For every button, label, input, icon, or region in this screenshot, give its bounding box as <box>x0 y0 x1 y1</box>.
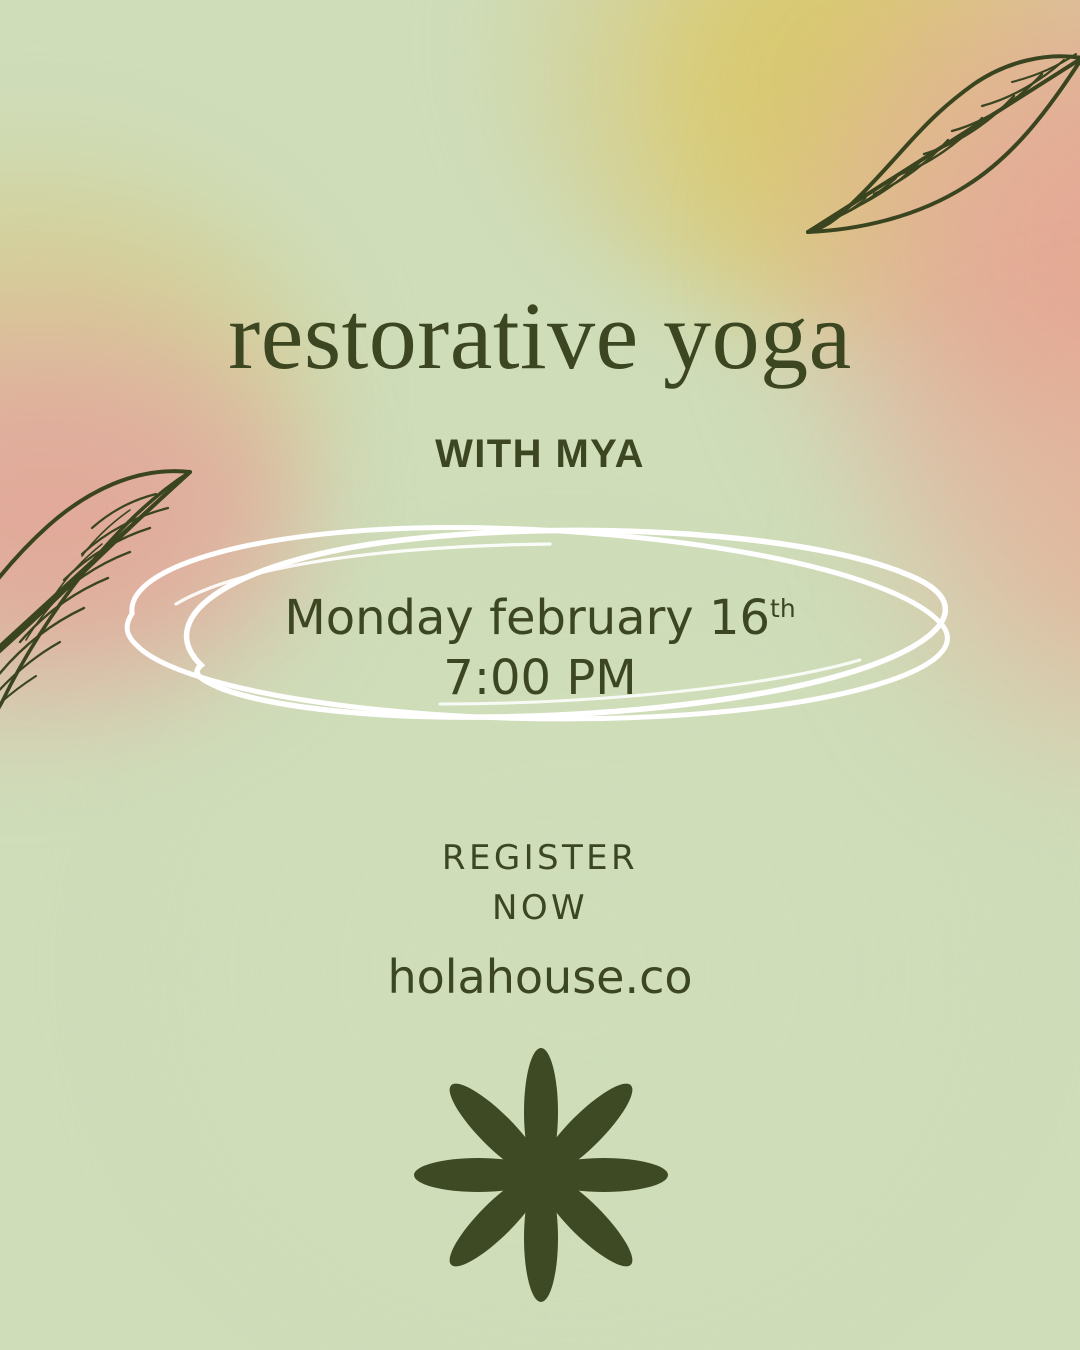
register-cta[interactable]: REGISTER NOW <box>0 834 1080 933</box>
page-title: restorative yoga <box>0 286 1080 387</box>
event-date: Monday february 16th <box>0 588 1080 648</box>
event-time: 7:00 PM <box>0 648 1080 708</box>
leaf-icon <box>796 18 1080 258</box>
register-cta-line2: NOW <box>0 884 1080 934</box>
event-details: Monday february 16th 7:00 PM <box>0 588 1080 709</box>
event-date-text: Monday february 16 <box>284 590 770 646</box>
event-date-ordinal: th <box>770 594 796 623</box>
flower-asterisk-icon <box>411 1045 671 1305</box>
register-cta-line1: REGISTER <box>0 834 1080 884</box>
website-link[interactable]: holahouse.co <box>0 950 1080 1004</box>
poster-canvas: restorative yoga WITH MYA Monday februar… <box>0 0 1080 1350</box>
instructor-label: WITH MYA <box>0 432 1080 477</box>
